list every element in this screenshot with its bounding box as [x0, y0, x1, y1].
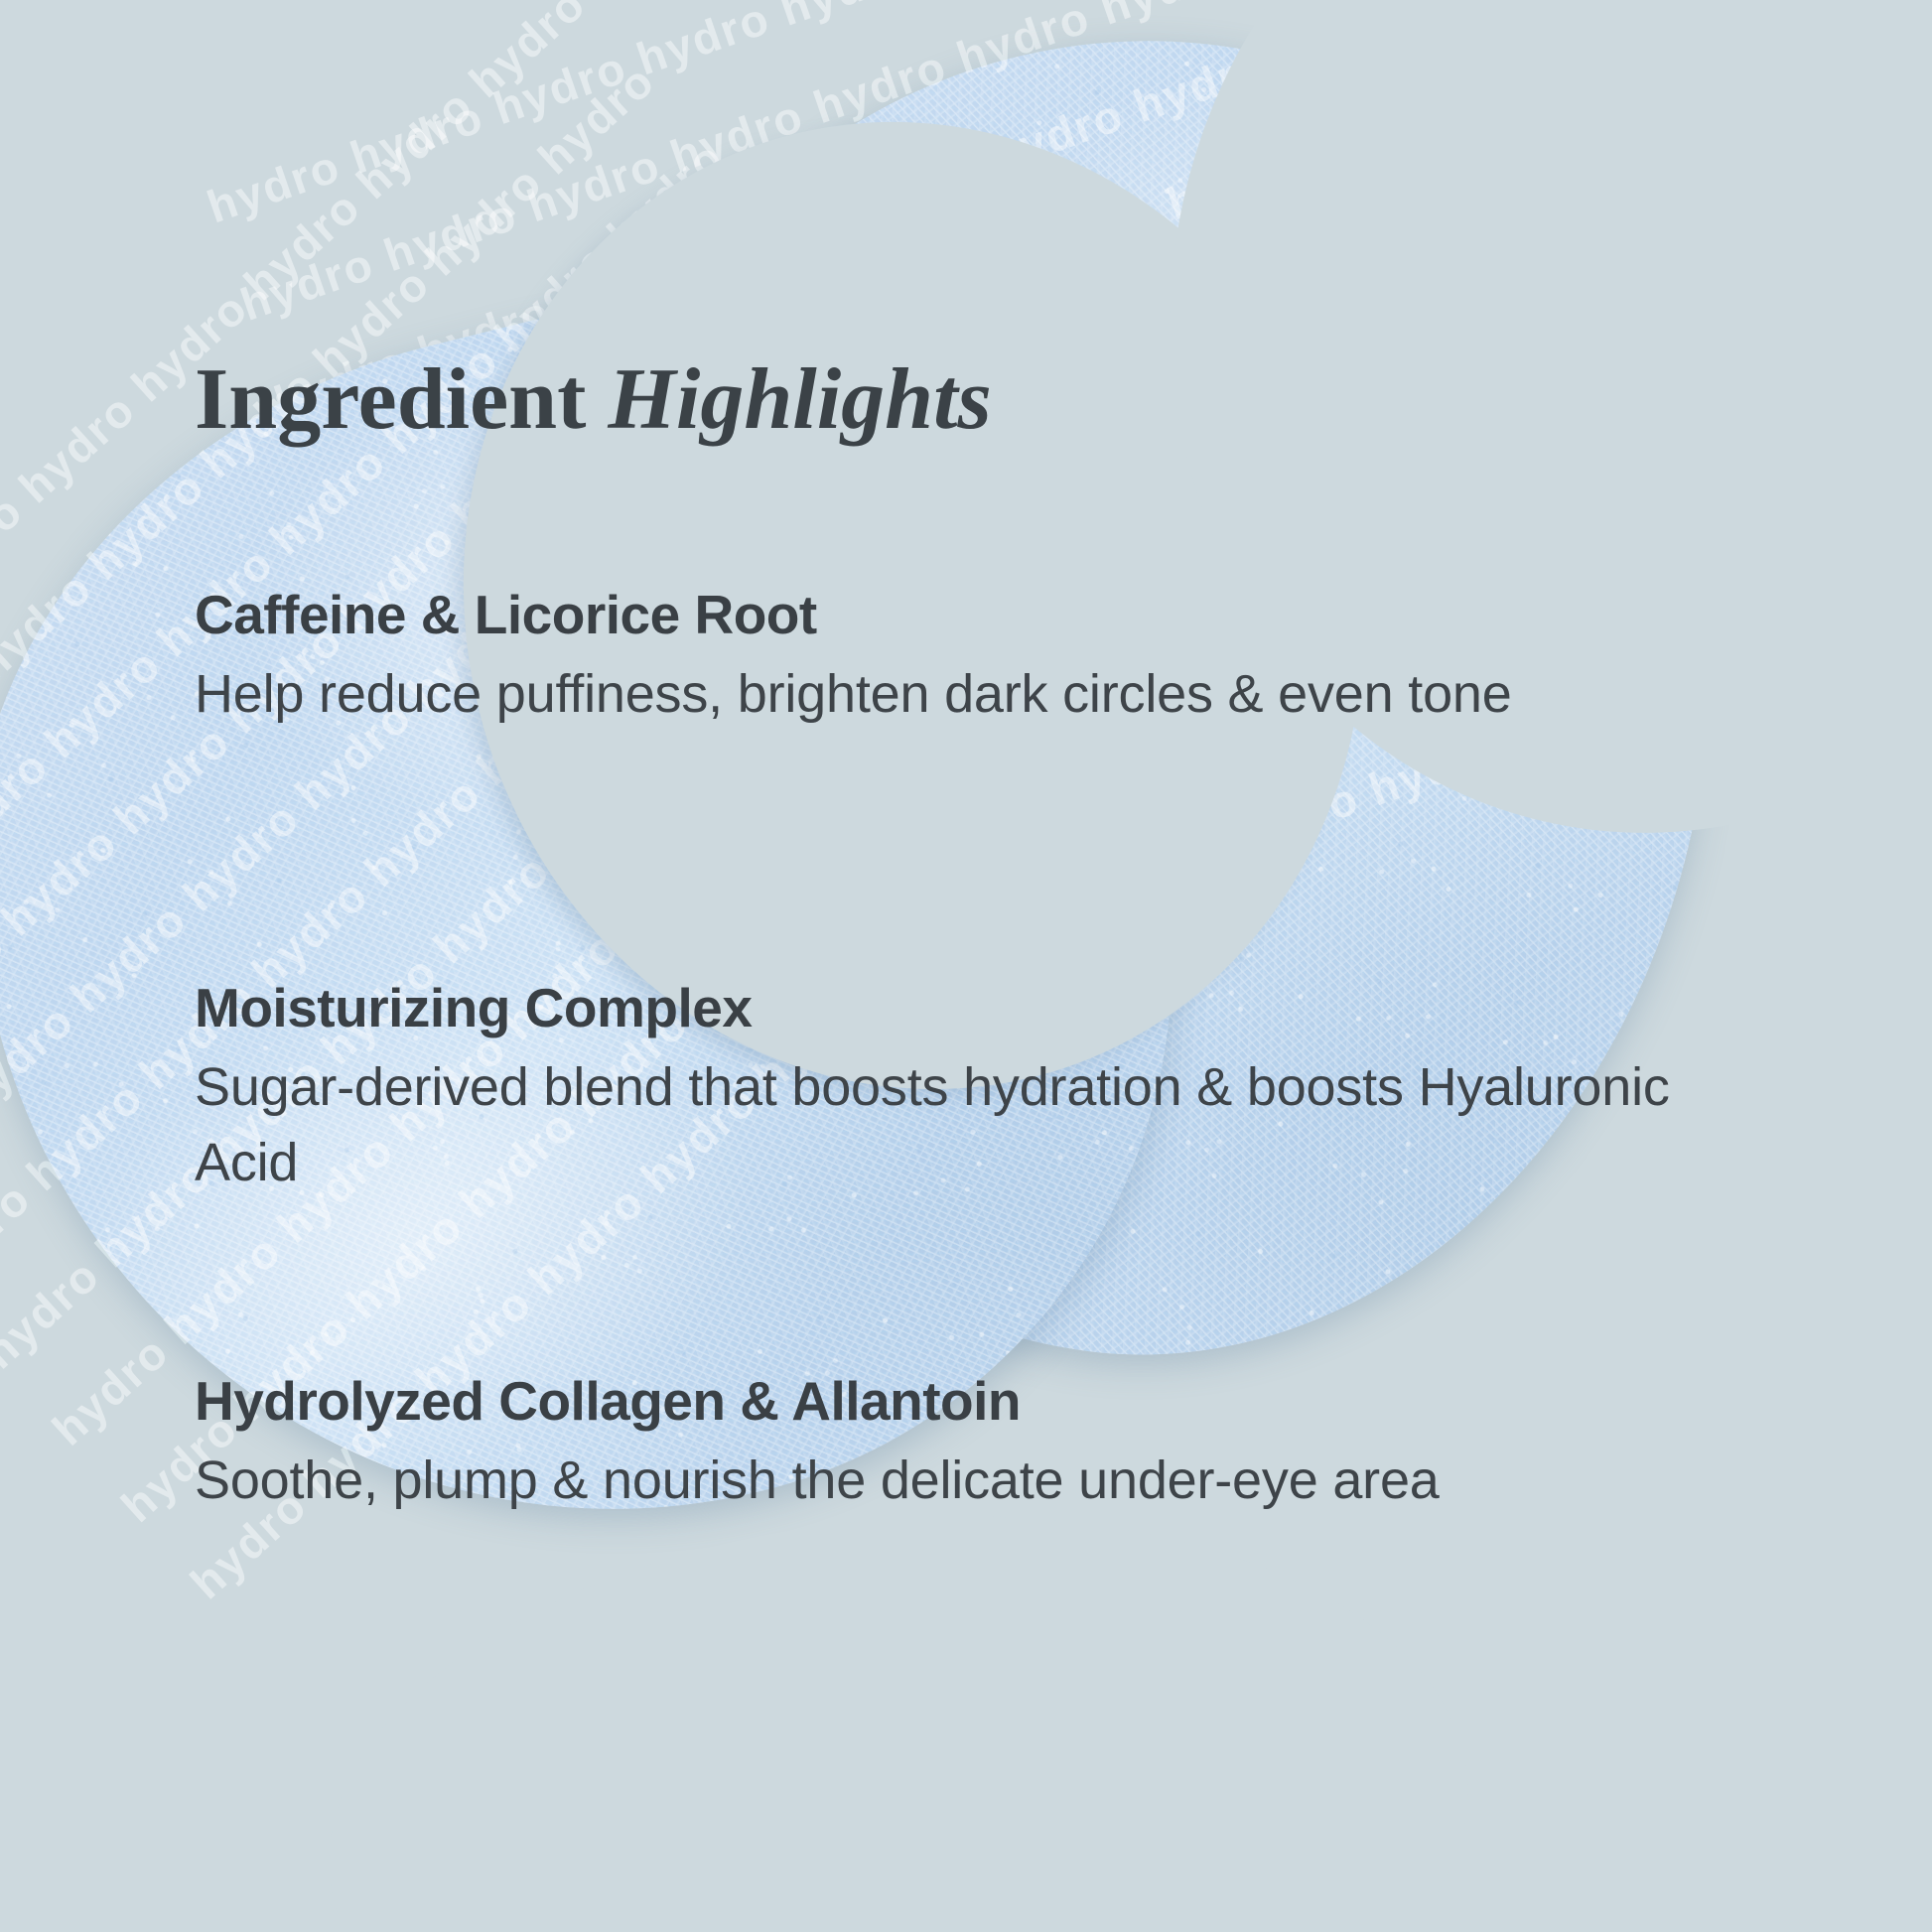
- ingredient-heading: Caffeine & Licorice Root: [195, 584, 1803, 646]
- ingredient-heading: Hydrolyzed Collagen & Allantoin: [195, 1370, 1803, 1433]
- product-ingredient-card: hydro hydro hydro hydro hydro hydro hydr…: [0, 0, 1932, 1932]
- text-overlay: Ingredient Highlights Caffeine & Licoric…: [0, 0, 1932, 1932]
- ingredient-description: Soothe, plump & nourish the delicate und…: [195, 1443, 1743, 1519]
- ingredient-heading: Moisturizing Complex: [195, 977, 1803, 1039]
- title-regular-part: Ingredient: [195, 351, 608, 448]
- ingredient-description: Sugar-derived blend that boosts hydratio…: [195, 1049, 1743, 1201]
- title-italic-part: Highlights: [608, 351, 991, 448]
- ingredient-section-caffeine-licorice-root: Caffeine & Licorice Root Help reduce puf…: [195, 584, 1803, 732]
- page-title: Ingredient Highlights: [195, 356, 992, 444]
- ingredient-section-hydrolyzed-collagen-allantoin: Hydrolyzed Collagen & Allantoin Soothe, …: [195, 1370, 1803, 1518]
- ingredient-section-moisturizing-complex: Moisturizing Complex Sugar-derived blend…: [195, 977, 1803, 1201]
- ingredient-description: Help reduce puffiness, brighten dark cir…: [195, 656, 1743, 733]
